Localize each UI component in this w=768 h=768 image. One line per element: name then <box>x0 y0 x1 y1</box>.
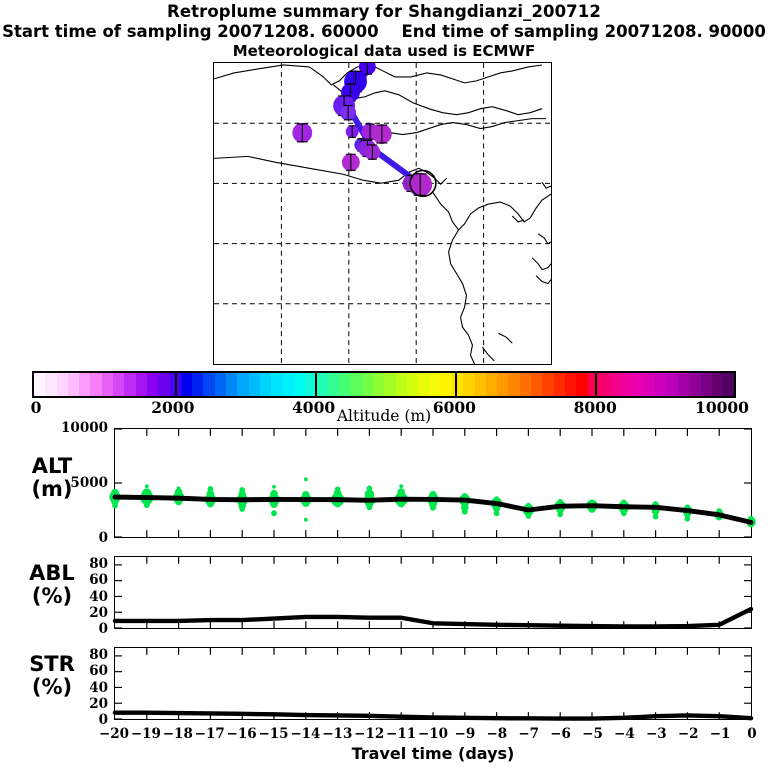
altitude-scatter-point <box>430 505 436 511</box>
altitude-plot <box>115 429 751 537</box>
colorbar-swatch <box>271 373 282 396</box>
colorbar-swatch <box>384 373 395 396</box>
str-panel <box>114 647 752 720</box>
colorbar-swatch <box>576 373 587 396</box>
colorbar-swatch <box>610 373 621 396</box>
x-tick-label: −6 <box>550 726 571 742</box>
altitude-scatter-point <box>399 484 403 488</box>
colorbar-swatch <box>441 373 452 396</box>
colorbar-swatch <box>588 373 599 396</box>
x-tick-label: −9 <box>455 726 476 742</box>
colorbar-swatch <box>418 373 429 396</box>
altitude-scatter-point <box>557 511 563 517</box>
panel-label-str-line1: STR <box>6 653 98 676</box>
altitude-scatter-point <box>177 486 181 490</box>
x-tick-label: −20 <box>99 726 129 742</box>
altitude-scatter-point <box>367 504 373 510</box>
altitude-scatter-point <box>526 513 532 519</box>
altitude-scatter-point <box>304 518 308 522</box>
colorbar-swatch <box>452 373 463 396</box>
colorbar-swatch <box>124 373 135 396</box>
colorbar-swatch <box>237 373 248 396</box>
coastline-paths <box>214 65 551 364</box>
sampling-time-subtitle: Start time of sampling 20071208. 60000 E… <box>0 21 768 42</box>
retroplume-summary-figure: Retroplume summary for Shangdianzi_20071… <box>0 0 768 768</box>
colorbar-swatch <box>283 373 294 396</box>
str-plot <box>115 648 751 719</box>
colorbar-divider <box>175 373 177 396</box>
x-tick-label: −16 <box>227 726 257 742</box>
altitude-scatter-point <box>335 487 341 493</box>
panel-label-abl-line2: (%) <box>6 585 98 608</box>
colorbar-swatch <box>497 373 508 396</box>
altitude-scatter-point <box>685 516 691 522</box>
y-tick-label: 80 <box>89 556 108 572</box>
colorbar-swatch <box>633 373 644 396</box>
colorbar-swatch <box>701 373 712 396</box>
altitude-scatter-point <box>272 485 276 489</box>
altitude-colorbar <box>32 371 736 398</box>
colorbar-divider <box>315 373 317 396</box>
panel-label-str-line2: (%) <box>6 676 98 699</box>
x-tick-label: −13 <box>322 726 352 742</box>
panel-label-abl-line1: ABL <box>6 562 98 585</box>
colorbar-swatch <box>475 373 486 396</box>
altitude-scatter-point <box>112 503 118 509</box>
colorbar-divider <box>595 373 597 396</box>
colorbar-swatch <box>260 373 271 396</box>
altitude-scatter-point <box>239 487 245 493</box>
x-tick-label: −4 <box>614 726 635 742</box>
y-tick-label: 0 <box>99 530 108 546</box>
colorbar-swatch <box>689 373 700 396</box>
altitude-scatter-point <box>397 488 405 496</box>
page-title: Retroplume summary for Shangdianzi_20071… <box>0 2 768 21</box>
colorbar-swatch <box>373 373 384 396</box>
x-tick-label: −12 <box>354 726 384 742</box>
y-tick-label: 40 <box>89 680 108 696</box>
colorbar-swatch <box>79 373 90 396</box>
colorbar-swatch <box>463 373 474 396</box>
panel-label-str: STR (%) <box>6 653 98 699</box>
colorbar-swatch <box>350 373 361 396</box>
x-tick-label: −7 <box>518 726 539 742</box>
y-tick-label: 5000 <box>70 475 108 491</box>
colorbar-swatch <box>678 373 689 396</box>
colorbar-swatch <box>396 373 407 396</box>
colorbar-swatch <box>723 373 734 396</box>
colorbar-swatch <box>520 373 531 396</box>
altitude-scatter-point <box>367 485 373 491</box>
colorbar-swatch <box>644 373 655 396</box>
altitude-scatter-point <box>304 477 308 481</box>
colorbar-swatch <box>531 373 542 396</box>
colorbar-swatch <box>34 373 45 396</box>
colorbar-swatch <box>339 373 350 396</box>
colorbar-swatch <box>508 373 519 396</box>
colorbar-swatch <box>316 373 327 396</box>
altitude-panel <box>114 428 752 538</box>
colorbar-swatch <box>102 373 113 396</box>
x-tick-label: −5 <box>582 726 603 742</box>
x-tick-label: −17 <box>195 726 225 742</box>
map-canvas <box>214 63 551 364</box>
x-tick-label: −18 <box>163 726 193 742</box>
colorbar-swatch <box>203 373 214 396</box>
altitude-scatter-point <box>144 502 150 508</box>
colorbar-swatch <box>147 373 158 396</box>
colorbar-swatch <box>621 373 632 396</box>
figure-title-block: Retroplume summary for Shangdianzi_20071… <box>0 0 768 61</box>
colorbar-swatch <box>136 373 147 396</box>
x-tick-label: −8 <box>486 726 507 742</box>
colorbar-swatch <box>712 373 723 396</box>
y-tick-label: 60 <box>89 663 108 679</box>
colorbar-swatch <box>655 373 666 396</box>
y-tick-label: 20 <box>89 696 108 712</box>
colorbar-swatch <box>90 373 101 396</box>
abl-panel <box>114 556 752 629</box>
colorbar-swatch <box>486 373 497 396</box>
colorbar-swatch <box>542 373 553 396</box>
colorbar-swatch <box>57 373 68 396</box>
y-tick-label: 10000 <box>61 420 108 436</box>
colorbar-swatch <box>565 373 576 396</box>
colorbar-swatch <box>215 373 226 396</box>
panel-label-abl: ABL (%) <box>6 562 98 608</box>
colorbar-swatch <box>407 373 418 396</box>
x-tick-label: −10 <box>418 726 448 742</box>
x-tick-label: −1 <box>710 726 731 742</box>
colorbar-divider <box>455 373 457 396</box>
colorbar-swatch <box>599 373 610 396</box>
abl-plot <box>115 557 751 628</box>
retroplume-map <box>213 62 552 365</box>
altitude-scatter-point <box>653 514 659 520</box>
meteorological-data-note: Meteorological data used is ECMWF <box>0 42 768 61</box>
x-tick-label: 0 <box>747 726 756 742</box>
altitude-scatter-point <box>145 484 149 488</box>
colorbar-caption: Altitude (m) <box>0 407 768 425</box>
x-tick-label: −15 <box>258 726 288 742</box>
y-tick-label: 20 <box>89 605 108 621</box>
colorbar-swatch <box>362 373 373 396</box>
colorbar-swatch <box>181 373 192 396</box>
colorbar-swatch <box>158 373 169 396</box>
y-tick-label: 80 <box>89 647 108 663</box>
x-tick-label: −19 <box>131 726 161 742</box>
altitude-scatter-point <box>239 506 245 512</box>
x-tick-label: −3 <box>646 726 667 742</box>
colorbar-swatch <box>249 373 260 396</box>
altitude-scatter-point <box>270 490 278 498</box>
altitude-scatter-point <box>462 509 468 515</box>
colorbar-swatch <box>226 373 237 396</box>
x-tick-label: −2 <box>678 726 699 742</box>
altitude-scatter-point <box>621 510 627 516</box>
x-tick-label: −11 <box>386 726 416 742</box>
colorbar-swatch <box>113 373 124 396</box>
colorbar-swatch <box>554 373 565 396</box>
x-tick-label: −14 <box>290 726 320 742</box>
colorbar-swatch <box>429 373 440 396</box>
altitude-scatter-point <box>494 510 500 516</box>
colorbar-swatch <box>294 373 305 396</box>
colorbar-swatch <box>45 373 56 396</box>
x-axis-title: Travel time (days) <box>114 744 752 763</box>
altitude-scatter-point <box>271 510 277 516</box>
colorbar-swatch <box>192 373 203 396</box>
map-gridlines <box>214 63 551 364</box>
colorbar-swatch <box>667 373 678 396</box>
colorbar-swatch <box>68 373 79 396</box>
y-tick-label: 60 <box>89 572 108 588</box>
y-tick-label: 40 <box>89 589 108 605</box>
altitude-scatter-point <box>208 486 214 492</box>
colorbar-swatch <box>328 373 339 396</box>
y-tick-label: 0 <box>99 621 108 637</box>
